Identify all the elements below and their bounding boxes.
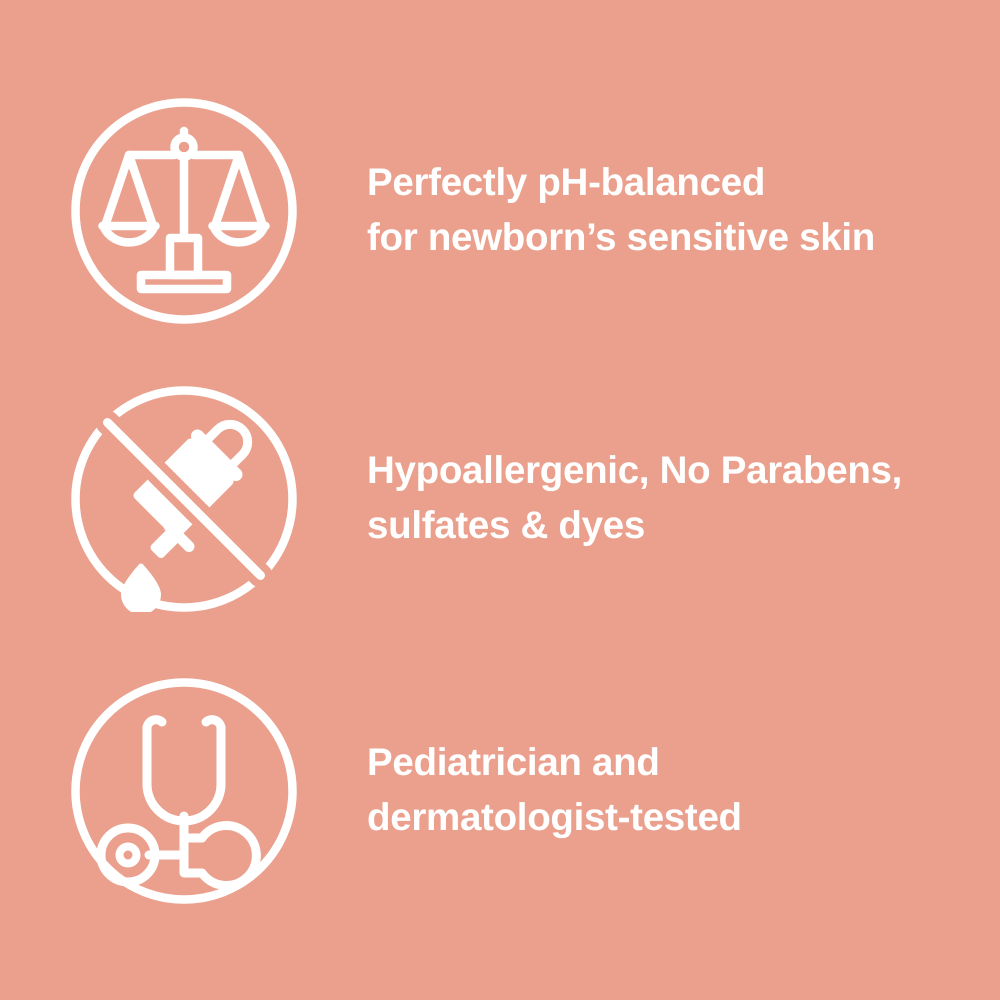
- stethoscope-eartip-left: [147, 720, 162, 728]
- stethoscope-diaphragm: [120, 847, 137, 864]
- scale-left-cone: [105, 155, 153, 226]
- feature-row: Pediatrician and dermatologist-tested: [0, 678, 1000, 904]
- feature-text: Hypoallergenic, No Parabens, sulfates & …: [367, 444, 1000, 553]
- stethoscope-lower-loop: [184, 826, 256, 886]
- stethoscope-icon: [71, 678, 297, 904]
- feature-row: Perfectly pH-balanced for newborn’s sens…: [0, 98, 1000, 324]
- product-benefits-panel: Perfectly pH-balanced for newborn’s sens…: [0, 0, 1000, 1000]
- scale-right-cone: [215, 155, 263, 226]
- scale-left-bowl: [105, 229, 154, 243]
- dropper-droplet: [124, 566, 159, 612]
- scale-pedestal: [170, 238, 198, 275]
- feature-text: Pediatrician and dermatologist-tested: [367, 736, 1000, 845]
- scale-right-bowl: [215, 229, 264, 243]
- no-dropper-icon: [71, 386, 297, 612]
- stethoscope-tubing: [147, 728, 221, 821]
- scale-foot: [141, 275, 227, 289]
- balance-scale-icon: [71, 98, 297, 324]
- feature-row: Hypoallergenic, No Parabens, sulfates & …: [0, 386, 1000, 612]
- dropper-tip: [155, 530, 179, 554]
- stethoscope-eartip-right: [206, 720, 221, 728]
- feature-text: Perfectly pH-balanced for newborn’s sens…: [367, 156, 1000, 265]
